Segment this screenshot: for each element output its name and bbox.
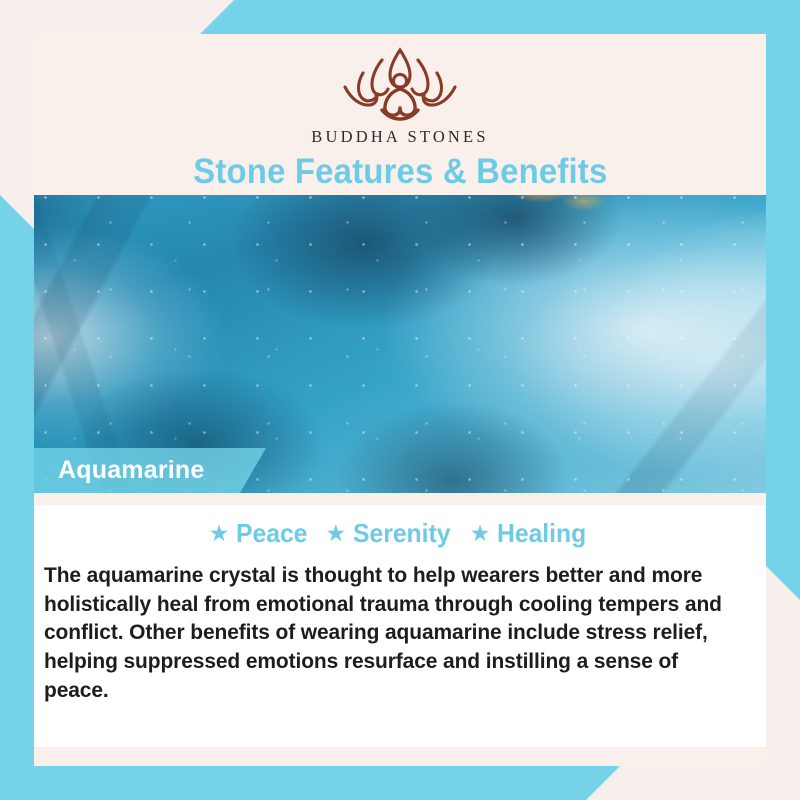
benefit-label: Peace	[236, 518, 307, 549]
decorative-band-right	[766, 0, 800, 600]
benefit-label: Serenity	[353, 518, 450, 549]
benefit-item: ★ Serenity	[326, 518, 456, 549]
decorative-band-bottom	[0, 766, 620, 800]
infographic-page: BUDDHA STONES Stone Features & Benefits …	[0, 0, 800, 800]
benefit-item: ★ Healing	[470, 518, 592, 549]
title-container: Stone Features & Benefits	[34, 148, 766, 196]
benefits-row: ★ Peace ★ Serenity ★ Healing	[34, 511, 766, 555]
stone-name-banner: Aquamarine	[34, 448, 266, 493]
page-title: Stone Features & Benefits	[193, 152, 607, 192]
star-icon: ★	[209, 522, 230, 545]
star-icon: ★	[326, 522, 347, 545]
description-text: The aquamarine crystal is thought to hel…	[44, 561, 737, 705]
decorative-band-left	[0, 195, 34, 800]
decorative-band-top	[200, 0, 800, 34]
benefit-label: Healing	[497, 518, 586, 549]
benefit-item: ★ Peace	[209, 518, 312, 549]
lotus-meditation-figure-icon	[325, 40, 475, 126]
content-panel: ★ Peace ★ Serenity ★ Healing The aquamar…	[34, 505, 766, 747]
star-icon: ★	[470, 522, 491, 545]
stone-name-label: Aquamarine	[58, 456, 204, 485]
brand-wordmark: BUDDHA STONES	[311, 127, 488, 147]
